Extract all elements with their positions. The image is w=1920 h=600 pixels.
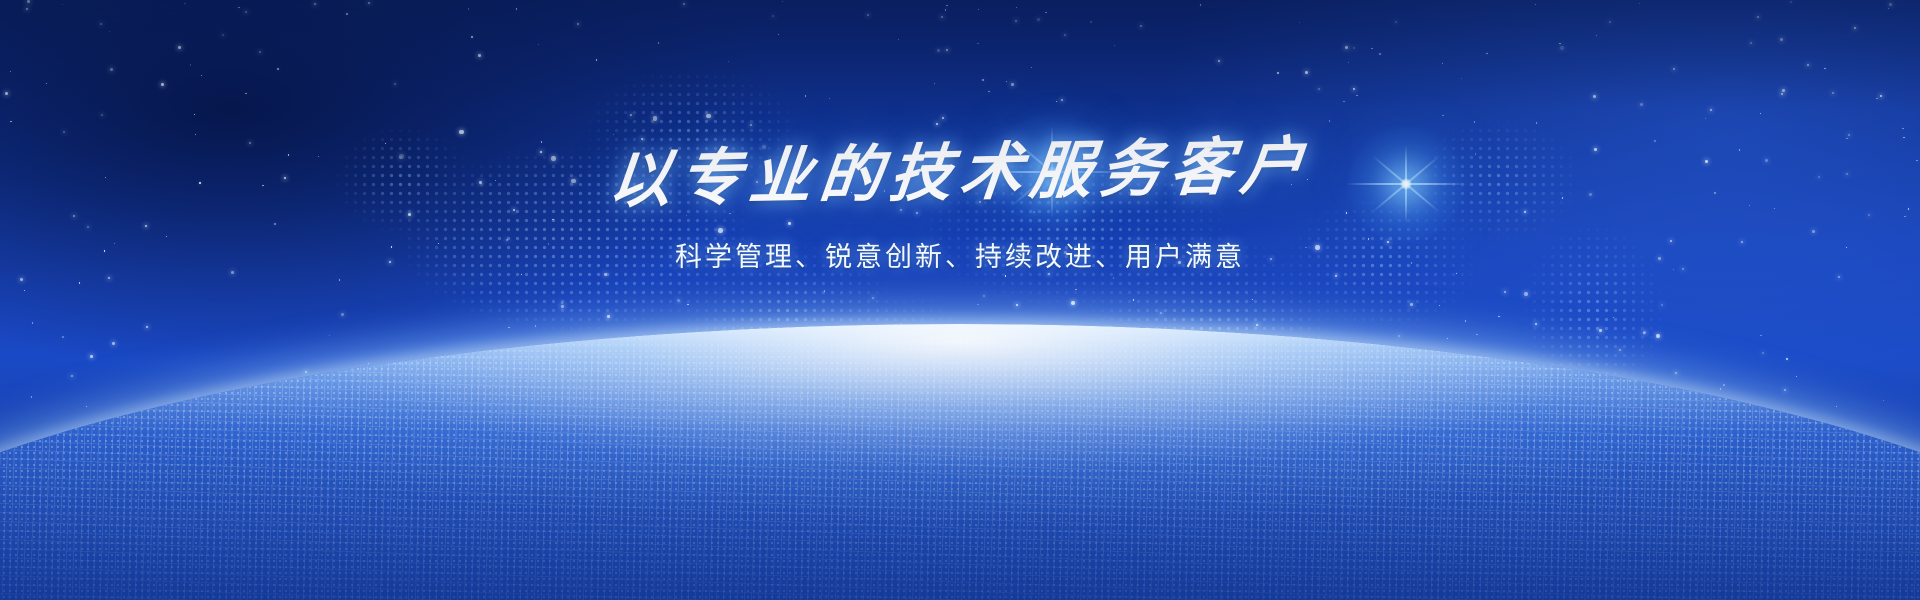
star bbox=[1661, 304, 1663, 306]
star bbox=[658, 42, 659, 43]
star bbox=[778, 34, 779, 35]
star bbox=[1710, 109, 1712, 111]
star bbox=[277, 68, 278, 69]
star bbox=[1609, 21, 1611, 23]
star bbox=[478, 54, 481, 57]
banner-text-block: 以专业的技术服务客户 科学管理、锐意创新、持续改进、用户满意 bbox=[0, 140, 1920, 274]
star bbox=[1832, 92, 1834, 94]
star bbox=[1006, 81, 1007, 82]
star bbox=[20, 278, 23, 281]
star bbox=[195, 134, 196, 135]
star bbox=[983, 295, 985, 297]
star bbox=[1888, 8, 1889, 9]
star bbox=[805, 95, 806, 96]
star bbox=[1781, 93, 1783, 95]
star bbox=[184, 3, 185, 4]
star bbox=[1559, 43, 1560, 44]
star bbox=[62, 4, 63, 5]
star bbox=[1016, 7, 1017, 8]
star bbox=[561, 302, 563, 304]
star bbox=[1064, 34, 1066, 36]
star bbox=[1056, 101, 1057, 102]
star bbox=[1780, 38, 1783, 41]
star bbox=[1465, 320, 1466, 321]
hero-banner: 以专业的技术服务客户 科学管理、锐意创新、持续改进、用户满意 bbox=[0, 0, 1920, 600]
star bbox=[946, 5, 947, 6]
star bbox=[982, 79, 983, 80]
star bbox=[1200, 4, 1201, 5]
star bbox=[596, 59, 597, 60]
star bbox=[630, 114, 632, 116]
star bbox=[1299, 22, 1300, 23]
star bbox=[10, 121, 11, 122]
star bbox=[1353, 88, 1355, 90]
star bbox=[898, 39, 899, 40]
star bbox=[1442, 63, 1443, 64]
star bbox=[259, 51, 261, 53]
star bbox=[24, 290, 25, 291]
star bbox=[1613, 317, 1614, 318]
star bbox=[1854, 27, 1856, 29]
star bbox=[341, 313, 344, 316]
star bbox=[1075, 289, 1076, 290]
star bbox=[516, 8, 517, 9]
star bbox=[867, 14, 869, 16]
star bbox=[937, 49, 940, 52]
star bbox=[110, 68, 113, 71]
star bbox=[1596, 35, 1597, 36]
star bbox=[1824, 68, 1825, 69]
star bbox=[1474, 121, 1475, 122]
star bbox=[1371, 48, 1372, 49]
star bbox=[27, 0, 30, 3]
star bbox=[1439, 305, 1440, 306]
star bbox=[941, 16, 943, 18]
star bbox=[245, 93, 246, 94]
star bbox=[824, 290, 825, 291]
star bbox=[1348, 62, 1349, 63]
star bbox=[1486, 53, 1487, 54]
star bbox=[1277, 72, 1278, 73]
star bbox=[468, 8, 469, 9]
star bbox=[1461, 78, 1462, 79]
star bbox=[339, 279, 340, 280]
star bbox=[1011, 83, 1014, 86]
star bbox=[829, 98, 830, 99]
star bbox=[1848, 134, 1850, 136]
star bbox=[1410, 303, 1413, 306]
star bbox=[1639, 3, 1640, 4]
star bbox=[607, 315, 610, 318]
star bbox=[1305, 71, 1308, 74]
star bbox=[46, 83, 47, 84]
star bbox=[190, 64, 191, 65]
star bbox=[1880, 95, 1882, 97]
star bbox=[1504, 291, 1506, 293]
star bbox=[945, 9, 946, 10]
star bbox=[942, 117, 944, 119]
star bbox=[782, 1, 783, 2]
star bbox=[1524, 292, 1529, 297]
star bbox=[1015, 20, 1017, 22]
star bbox=[1903, 137, 1904, 138]
star bbox=[1345, 46, 1348, 49]
star bbox=[1353, 47, 1355, 49]
star bbox=[538, 44, 539, 45]
star bbox=[1343, 101, 1344, 102]
star bbox=[772, 15, 774, 17]
star bbox=[1640, 103, 1643, 106]
star bbox=[1218, 60, 1220, 62]
star bbox=[1535, 4, 1536, 5]
star bbox=[1498, 316, 1499, 317]
star bbox=[459, 130, 464, 135]
star bbox=[5, 92, 8, 95]
star bbox=[161, 83, 164, 86]
star bbox=[1133, 299, 1134, 300]
star bbox=[245, 11, 247, 13]
banner-subtitle: 科学管理、锐意创新、持续改进、用户满意 bbox=[675, 235, 1245, 274]
star bbox=[521, 274, 522, 275]
star bbox=[1071, 301, 1076, 306]
star bbox=[26, 8, 28, 10]
star bbox=[936, 123, 938, 125]
star bbox=[1329, 120, 1330, 121]
star bbox=[1757, 16, 1759, 18]
star bbox=[613, 134, 614, 135]
star bbox=[946, 49, 948, 51]
star bbox=[471, 36, 472, 37]
star bbox=[1760, 113, 1761, 114]
star bbox=[1705, 118, 1706, 119]
star bbox=[1560, 46, 1565, 51]
star bbox=[1379, 53, 1380, 54]
star bbox=[1807, 64, 1809, 66]
star bbox=[1061, 99, 1063, 101]
star bbox=[1782, 89, 1785, 92]
star bbox=[394, 83, 396, 85]
star bbox=[1356, 95, 1357, 96]
star bbox=[178, 46, 181, 49]
star bbox=[1031, 67, 1032, 68]
star bbox=[683, 3, 685, 5]
star bbox=[194, 114, 195, 115]
star bbox=[101, 114, 103, 116]
star bbox=[1902, 128, 1903, 129]
star bbox=[934, 83, 935, 84]
star bbox=[100, 23, 102, 25]
star bbox=[1536, 122, 1537, 123]
star bbox=[1318, 88, 1320, 90]
star bbox=[687, 304, 688, 305]
star bbox=[872, 297, 874, 299]
star bbox=[108, 277, 110, 279]
star bbox=[1140, 25, 1142, 27]
star bbox=[201, 75, 202, 76]
star bbox=[1335, 275, 1337, 277]
star bbox=[368, 2, 370, 4]
star bbox=[728, 61, 729, 62]
star bbox=[222, 34, 224, 36]
star bbox=[238, 7, 239, 8]
star bbox=[977, 304, 978, 305]
star bbox=[1037, 18, 1040, 21]
star bbox=[978, 9, 979, 10]
star bbox=[346, 13, 347, 14]
star bbox=[1160, 312, 1162, 314]
star bbox=[79, 282, 80, 283]
star bbox=[677, 299, 680, 302]
bottom-haze bbox=[0, 324, 1920, 600]
star bbox=[750, 124, 752, 126]
star bbox=[561, 305, 564, 308]
star bbox=[1838, 276, 1840, 278]
star bbox=[1673, 68, 1675, 70]
star bbox=[1005, 275, 1006, 276]
star bbox=[1395, 21, 1397, 23]
star bbox=[1114, 45, 1115, 46]
star bbox=[653, 116, 658, 121]
star bbox=[1593, 95, 1596, 98]
star bbox=[1750, 42, 1752, 44]
star bbox=[109, 31, 110, 32]
star bbox=[706, 114, 711, 119]
star bbox=[10, 71, 11, 72]
star bbox=[577, 23, 579, 25]
banner-headline: 以专业的技术服务客户 bbox=[606, 133, 1314, 215]
star bbox=[988, 91, 989, 92]
star bbox=[1790, 1, 1792, 3]
star bbox=[1252, 299, 1253, 300]
star bbox=[1090, 21, 1091, 22]
star bbox=[1016, 304, 1018, 306]
star bbox=[314, 3, 316, 5]
star bbox=[1113, 277, 1114, 278]
star bbox=[63, 131, 65, 133]
star bbox=[977, 43, 978, 44]
star bbox=[1876, 98, 1877, 99]
star bbox=[1045, 12, 1046, 13]
star bbox=[1889, 3, 1892, 6]
star bbox=[1442, 115, 1443, 116]
